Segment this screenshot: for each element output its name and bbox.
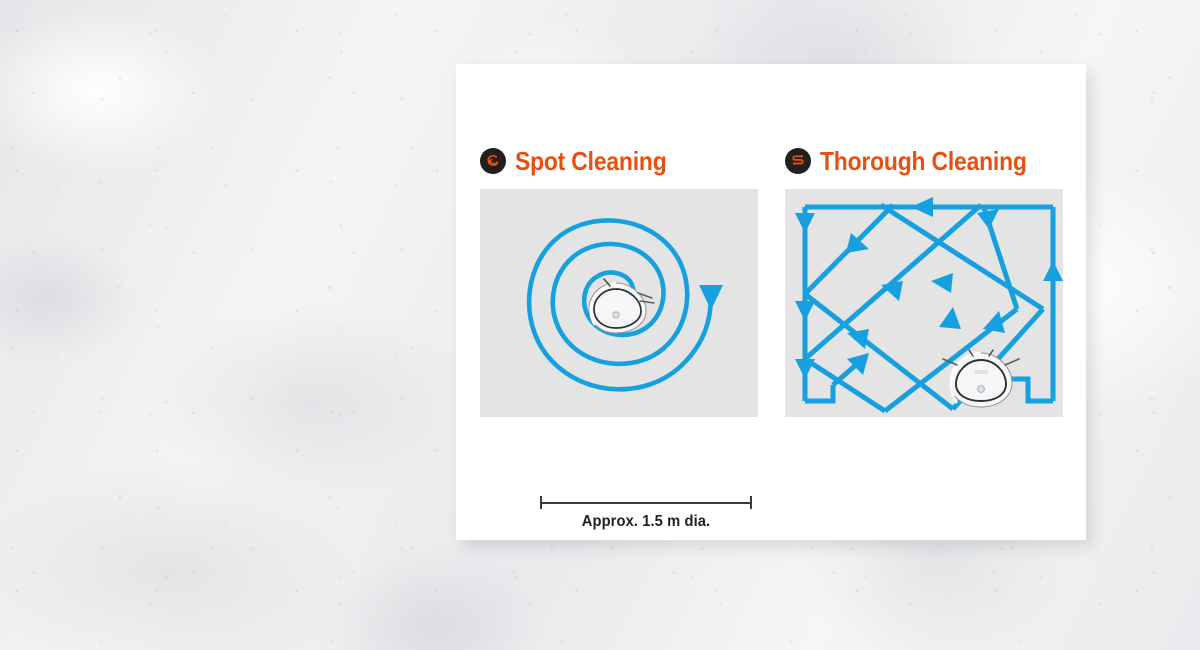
dimension-tick-right [750,496,752,509]
path-arrowheads [795,197,1063,389]
dimension-line [540,496,752,508]
robot-vacuum [589,279,654,333]
spiral-icon [480,148,506,174]
zigzag-s-icon [785,148,811,174]
panel-spot-cleaning: Spot Cleaning [480,146,758,417]
panel-title: Thorough Cleaning [820,148,1027,174]
diagram-thorough-cleaning [785,189,1063,417]
diagram-spot-cleaning [480,189,758,417]
content-card: Spot Cleaning [456,64,1086,540]
heading-thorough-cleaning: Thorough Cleaning [785,146,1063,176]
panel-title: Spot Cleaning [515,148,667,174]
spot-spiral-path [480,189,758,417]
dimension-annotation: Approx. 1.5 m dia. [540,496,752,531]
dimension-caption: Approx. 1.5 m dia. [548,513,743,531]
heading-spot-cleaning: Spot Cleaning [480,146,758,176]
panel-thorough-cleaning: Thorough Cleaning [785,146,1063,417]
dimension-bar [540,502,752,504]
thorough-crisscross-path [785,189,1063,417]
